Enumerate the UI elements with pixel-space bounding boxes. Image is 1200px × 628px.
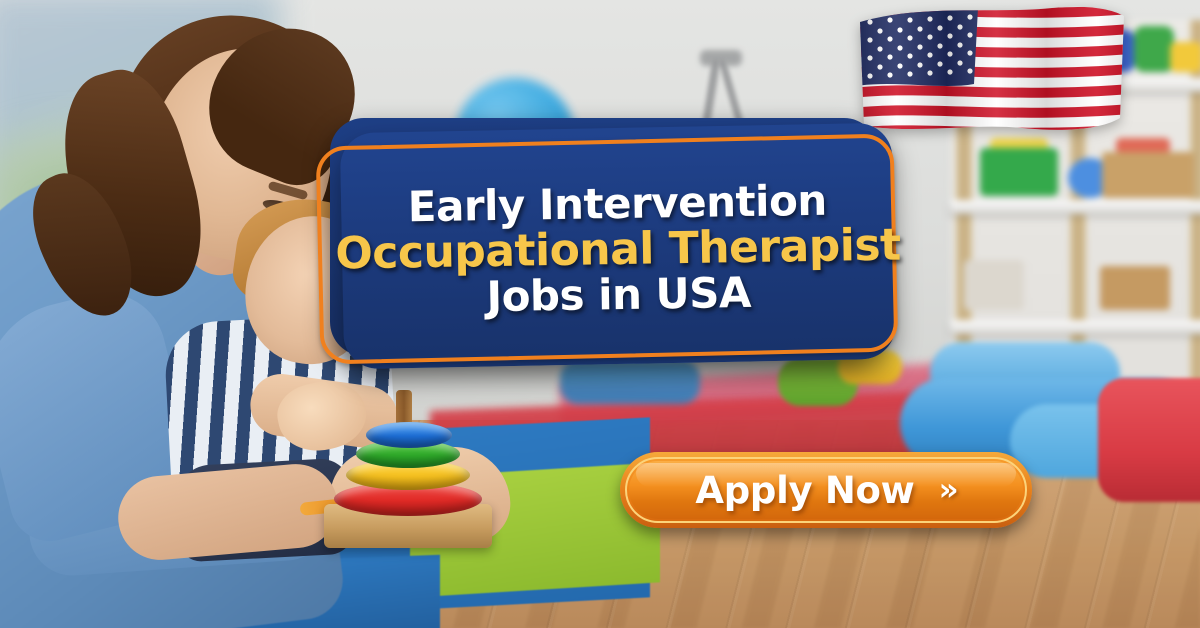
shelf-toy <box>1170 42 1200 72</box>
double-chevron-right-icon: » <box>939 472 957 508</box>
shelf-toy <box>1134 26 1174 72</box>
toy-bin <box>980 148 1058 196</box>
shelf-board <box>950 200 1200 214</box>
toy-ring-blue <box>366 422 452 448</box>
stacking-ring-toy <box>318 408 498 548</box>
headline-panel: Early Intervention Occupational Therapis… <box>318 118 898 370</box>
foam-bolster-red <box>1098 378 1200 502</box>
headline-line-3: Jobs in USA <box>486 272 751 319</box>
wooden-crate <box>1100 266 1170 310</box>
cta-label: Apply Now <box>695 469 914 512</box>
shelf-board <box>950 320 1200 334</box>
shelf-toy <box>964 260 1024 310</box>
apply-now-button[interactable]: Apply Now » <box>620 452 1032 528</box>
headline-text-group: Early Intervention Occupational Therapis… <box>342 136 893 365</box>
promotional-banner: Early Intervention Occupational Therapis… <box>0 0 1200 628</box>
headline-line-2: Occupational Therapist <box>335 223 901 277</box>
wooden-crate <box>1102 152 1194 198</box>
cta-face: Apply Now » <box>629 461 1023 519</box>
